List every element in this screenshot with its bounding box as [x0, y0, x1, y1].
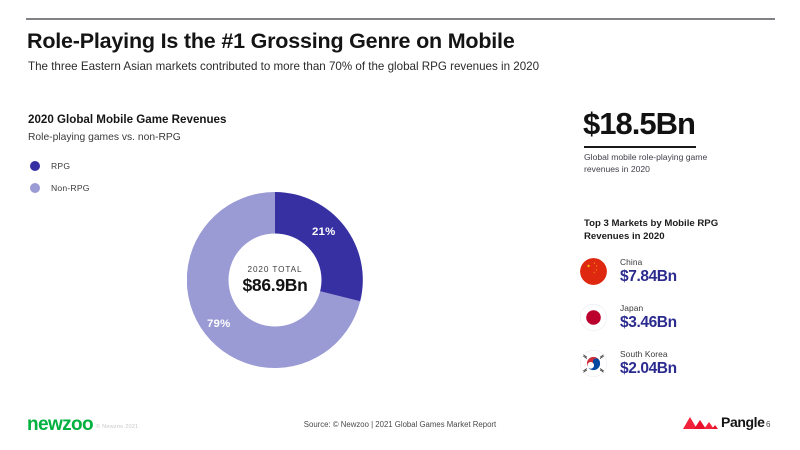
page-number: 6 — [766, 420, 770, 429]
pangle-wordmark: Pangle — [721, 414, 765, 430]
list-item[interactable]: Japan $3.46Bn — [580, 298, 795, 336]
page-title: Role-Playing Is the #1 Grossing Genre on… — [27, 29, 515, 54]
market-text: Japan $3.46Bn — [620, 303, 677, 332]
chart-subtitle: Role-playing games vs. non-RPG — [28, 132, 181, 143]
legend-swatch-rpg — [30, 161, 40, 171]
hero-caption: Global mobile role-playing game revenues… — [584, 152, 734, 176]
market-name: South Korea — [620, 349, 677, 359]
flag-china-icon — [580, 258, 607, 285]
donut-chart-svg — [187, 192, 363, 368]
market-value: $3.46Bn — [620, 314, 677, 332]
slide-canvas: Role-Playing Is the #1 Grossing Genre on… — [0, 0, 800, 450]
list-item[interactable]: South Korea $2.04Bn — [580, 344, 795, 382]
top-markets-list: China $7.84Bn Japan $3.46Bn — [580, 252, 795, 390]
top-markets-title: Top 3 Markets by Mobile RPG Revenues in … — [584, 217, 749, 244]
chart-title: 2020 Global Mobile Game Revenues — [28, 113, 226, 126]
legend-label-non-rpg: Non-RPG — [51, 183, 90, 193]
market-text: South Korea $2.04Bn — [620, 349, 677, 378]
pangle-logo: Pangle — [681, 414, 765, 430]
donut-label-rpg: 21% — [312, 226, 335, 238]
hero-divider — [584, 146, 696, 148]
list-item[interactable]: China $7.84Bn — [580, 252, 795, 290]
donut-label-non-rpg: 79% — [207, 318, 230, 330]
market-name: Japan — [620, 303, 677, 313]
donut-hole — [229, 234, 322, 327]
source-caption: Source: © Newzoo | 2021 Global Games Mar… — [0, 420, 800, 429]
flag-south-korea-icon — [580, 350, 607, 377]
legend-item-rpg[interactable]: RPG — [30, 157, 90, 174]
page-subtitle: The three Eastern Asian markets contribu… — [28, 60, 539, 73]
chart-legend: RPG Non-RPG — [30, 157, 90, 201]
legend-swatch-non-rpg — [30, 183, 40, 193]
footer-divider — [0, 404, 800, 405]
legend-label-rpg: RPG — [51, 161, 70, 171]
flag-japan-icon — [580, 304, 607, 331]
market-value: $7.84Bn — [620, 268, 677, 286]
pangle-mark-icon — [681, 414, 719, 430]
market-name: China — [620, 257, 677, 267]
header-divider — [26, 18, 775, 20]
market-text: China $7.84Bn — [620, 257, 677, 286]
donut-chart: 21% 79% 2020 TOTAL $86.9Bn — [187, 192, 363, 368]
hero-value: $18.5Bn — [583, 106, 695, 142]
market-value: $2.04Bn — [620, 360, 677, 378]
legend-item-non-rpg[interactable]: Non-RPG — [30, 179, 90, 196]
